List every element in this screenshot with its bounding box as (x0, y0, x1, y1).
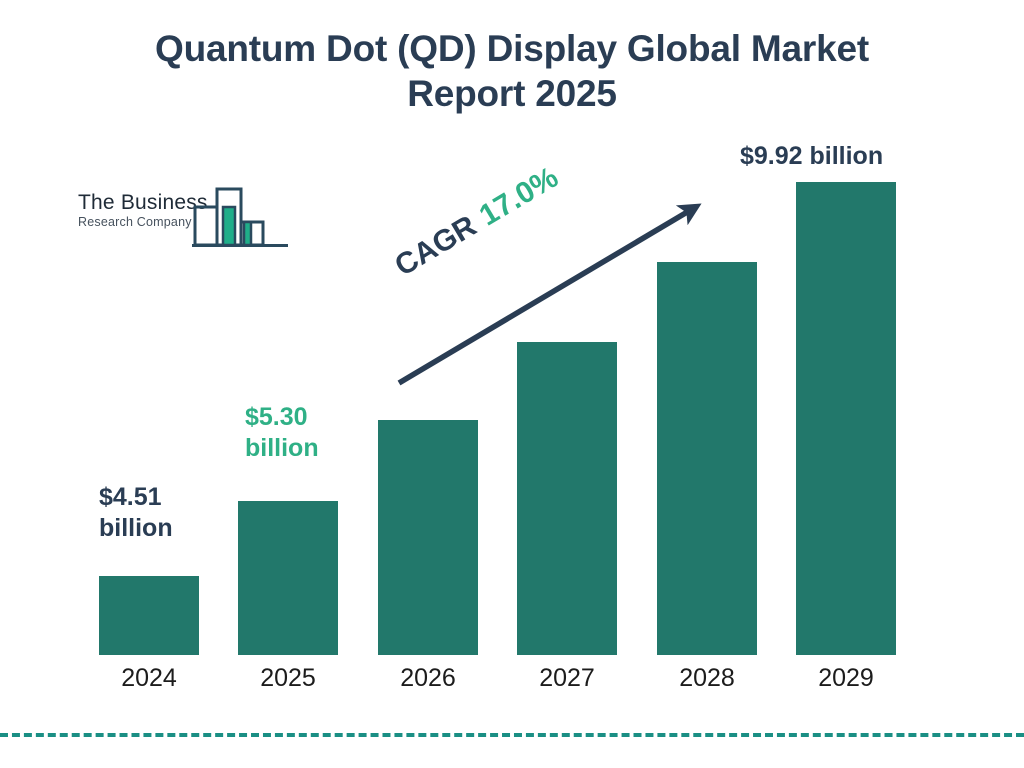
x-tick-2024: 2024 (99, 664, 199, 693)
bar-2025 (238, 501, 338, 655)
value-label-2024: $4.51 billion (99, 482, 173, 543)
page-title: Quantum Dot (QD) Display Global Market R… (112, 26, 912, 116)
value-label-2029-line1: $9.92 billion (740, 141, 883, 172)
x-tick-2029: 2029 (796, 664, 896, 693)
cagr-value: 17.0% (474, 161, 564, 233)
value-label-2029: $9.92 billion (740, 141, 883, 172)
bar-2024 (99, 576, 199, 655)
x-tick-2028: 2028 (657, 664, 757, 693)
value-label-2024-line1: $4.51 (99, 482, 173, 513)
x-tick-2026: 2026 (378, 664, 478, 693)
x-tick-2025: 2025 (238, 664, 338, 693)
footer-divider (0, 733, 1024, 737)
value-label-2024-line2: billion (99, 513, 173, 544)
value-label-2025: $5.30 billion (245, 402, 319, 463)
bar-2028 (657, 262, 757, 655)
value-label-2025-line1: $5.30 (245, 402, 319, 433)
logo-line-2: Research Company (78, 216, 208, 230)
chart-canvas: Quantum Dot (QD) Display Global Market R… (0, 0, 1024, 768)
logo-text: The Business Research Company (78, 192, 208, 230)
x-tick-2027: 2027 (517, 664, 617, 693)
bar-2029 (796, 182, 896, 655)
logo-line-1: The Business (78, 192, 208, 214)
bar-2027 (517, 342, 617, 655)
bar-chart-logo-mark (192, 186, 288, 254)
bar-2026 (378, 420, 478, 655)
cagr-word: CAGR (389, 209, 482, 282)
company-logo: The Business Research Company (72, 186, 288, 254)
value-label-2025-line2: billion (245, 433, 319, 464)
cagr-label: CAGR17.0% (389, 161, 564, 284)
